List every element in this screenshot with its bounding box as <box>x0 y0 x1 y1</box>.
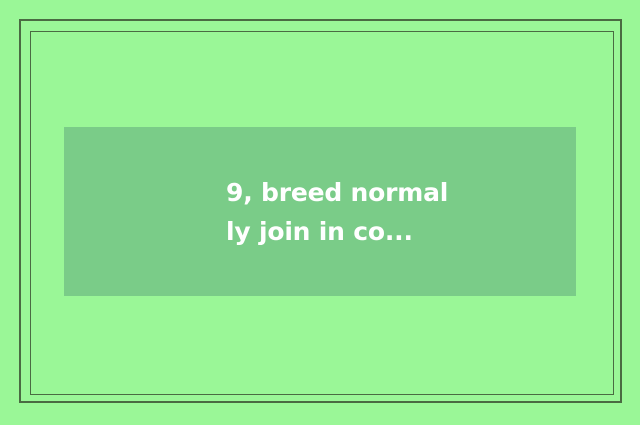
content-panel: 9, breed normal ly join in co... <box>64 127 576 296</box>
page-canvas: 9, breed normal ly join in co... <box>0 0 640 425</box>
caption-block: 9, breed normal ly join in co... <box>64 173 576 251</box>
caption-line-2: ly join in co... <box>226 212 576 251</box>
caption-line-1: 9, breed normal <box>226 173 576 212</box>
